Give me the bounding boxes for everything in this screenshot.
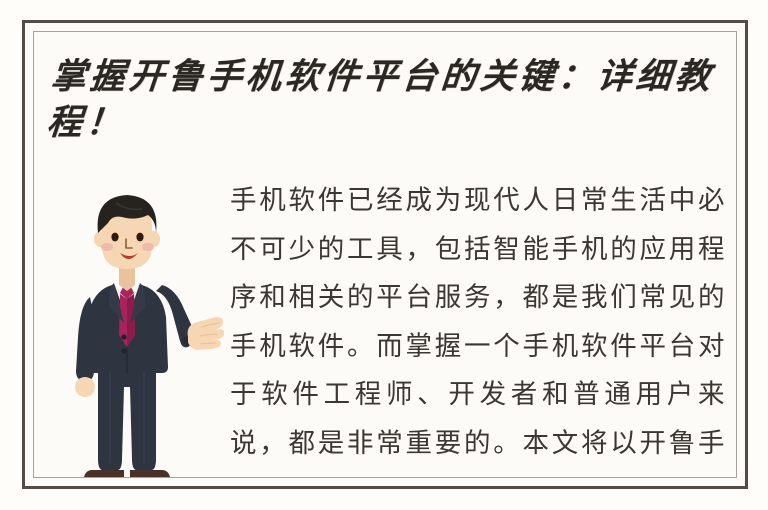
businessman-figure-svg xyxy=(64,187,224,478)
outer-decorative-frame: 掌握开鲁手机软件平台的关键：详细教程！ xyxy=(22,20,748,489)
blush-left xyxy=(101,243,113,251)
jacket-button-lower xyxy=(121,348,126,353)
inner-decorative-frame: 掌握开鲁手机软件平台的关键：详细教程！ xyxy=(33,31,737,478)
article-title: 掌握开鲁手机软件平台的关键：详细教程！ xyxy=(45,54,721,146)
eye-left xyxy=(111,233,118,242)
hand-right-open-palm xyxy=(188,317,224,350)
blush-right xyxy=(142,243,154,251)
hand-left xyxy=(75,377,95,397)
jacket-button-upper xyxy=(121,334,126,339)
article-body-text: 手机软件已经成为现代人日常生活中必不可少的工具，包括智能手机的应用程序和相关的平… xyxy=(230,177,726,478)
eye-right xyxy=(136,233,143,242)
shoe-right xyxy=(130,470,171,478)
article-page: 掌握开鲁手机软件平台的关键：详细教程！ xyxy=(0,0,768,510)
trousers xyxy=(98,365,156,470)
shoe-left xyxy=(84,470,125,478)
illustration-businessman xyxy=(64,187,224,478)
